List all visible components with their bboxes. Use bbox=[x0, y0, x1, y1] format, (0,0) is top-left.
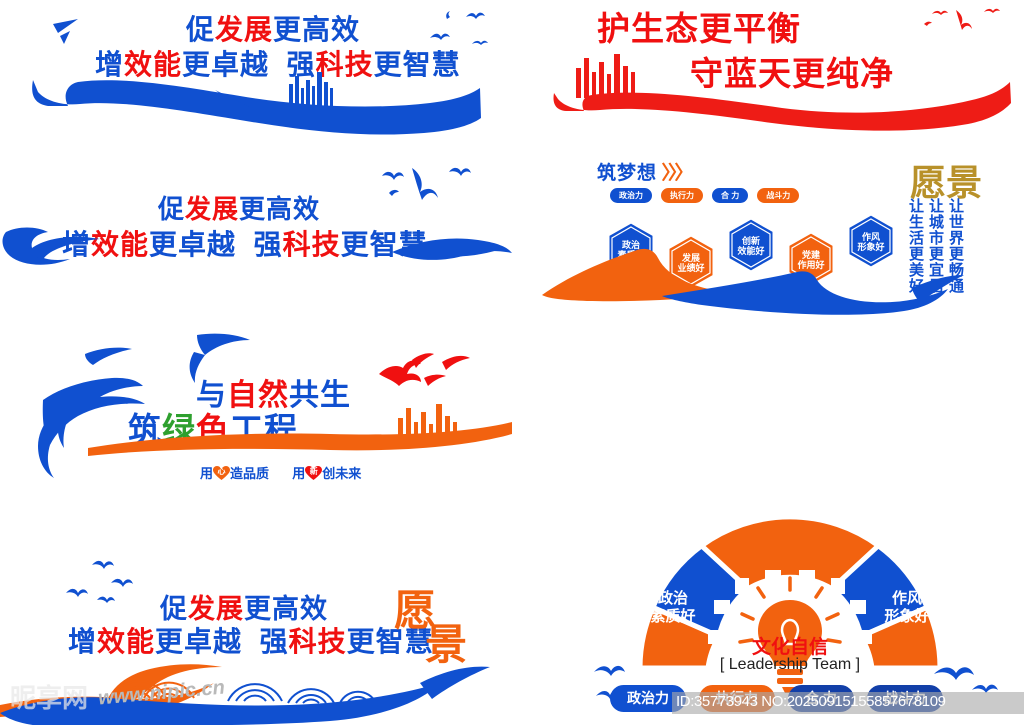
red-doves-icon bbox=[379, 353, 470, 386]
fan-label-0-line1: 政治 bbox=[628, 590, 718, 608]
birds-icon bbox=[924, 9, 1000, 30]
panel-nature-green-mid-left: 与自然共生 筑绿色工程 用 心 造品质 用 新 创未来 bbox=[0, 330, 512, 505]
fan-label-0[interactable]: 政治 素质好 bbox=[628, 590, 718, 626]
fan-label-4[interactable]: 作风 形象好 bbox=[862, 590, 952, 626]
panel3-wave-graphic bbox=[0, 160, 512, 325]
fan-label-3-line2: 作用好 bbox=[844, 526, 934, 544]
panel-red-wave-top-right: 护生态更平衡 守蓝天更纯净 bbox=[512, 0, 1024, 130]
fan-label-3[interactable]: 党建 作用好 bbox=[844, 508, 934, 544]
fan-label-1-line1: 发展 bbox=[645, 508, 735, 526]
panel6-wave-graphic: 昵享网 bbox=[0, 555, 512, 725]
fan-label-0-line2: 素质好 bbox=[628, 608, 718, 626]
watermark-brand-text: 昵享网 bbox=[10, 683, 88, 713]
fan-label-2-line2: 效能好 bbox=[745, 492, 835, 510]
fan-label-1-line2: 业绩好 bbox=[645, 526, 735, 544]
panel5-wave-graphic bbox=[0, 330, 512, 505]
fan-center-subtitle: [ Leadership Team ] bbox=[700, 656, 880, 674]
vision-columns: 让世界更畅通 让城市更宜居 让生活更美好 bbox=[907, 198, 964, 294]
fan-label-2-line1: 创新 bbox=[745, 474, 835, 492]
fan-label-4-line1: 作风 bbox=[862, 590, 952, 608]
birds-icon bbox=[66, 561, 133, 603]
panel1-wave-graphic bbox=[0, 0, 512, 155]
panel-dream-hexagons-mid-right: 筑梦想 〉〉〉 政治力 执行力 合 力 战斗力 政治 素质好 发展 业绩好 创新… bbox=[512, 150, 1024, 330]
birds-icon bbox=[430, 11, 488, 45]
panel-blue-ribbon-mid-left: 促发展更高效 增效能更卓越 强科技更智慧 bbox=[0, 160, 512, 325]
nipic-watermark-logo: 昵享网 bbox=[10, 683, 88, 713]
city-skyline-icon bbox=[398, 404, 457, 438]
fan-label-2[interactable]: 创新 效能好 bbox=[745, 474, 835, 510]
birds-icon bbox=[382, 168, 471, 200]
city-skyline-icon bbox=[576, 54, 635, 98]
panel-vision-sea-bottom-left: 促发展更高效 增效能更卓越 强科技更智慧 愿 景 bbox=[0, 555, 512, 725]
vision-column-2: 让生活更美好 bbox=[907, 198, 924, 294]
fan-center-title: 文化自信 bbox=[740, 632, 840, 659]
vision-column-1: 让城市更宜居 bbox=[927, 198, 944, 294]
watermark-id-text: ID:35773943 NO:20250915155857678109 bbox=[676, 693, 946, 710]
panel-leadership-fan-bottom-right: 政治 素质好 发展 业绩好 创新 效能好 党建 作用好 作风 形象好 文化自信 … bbox=[590, 450, 1024, 725]
vision-column-0: 让世界更畅通 bbox=[947, 198, 964, 294]
fan-label-1[interactable]: 发展 业绩好 bbox=[645, 508, 735, 544]
city-skyline-icon bbox=[289, 72, 333, 106]
fan-label-4-line2: 形象好 bbox=[862, 608, 952, 626]
paper-plane-icon bbox=[53, 19, 78, 44]
panel-blue-wave-top-left: 促发展更高效 增效能更卓越 强科技更智慧 bbox=[0, 0, 512, 155]
fan-label-3-line1: 党建 bbox=[844, 508, 934, 526]
panel2-wave-graphic bbox=[512, 0, 1024, 130]
